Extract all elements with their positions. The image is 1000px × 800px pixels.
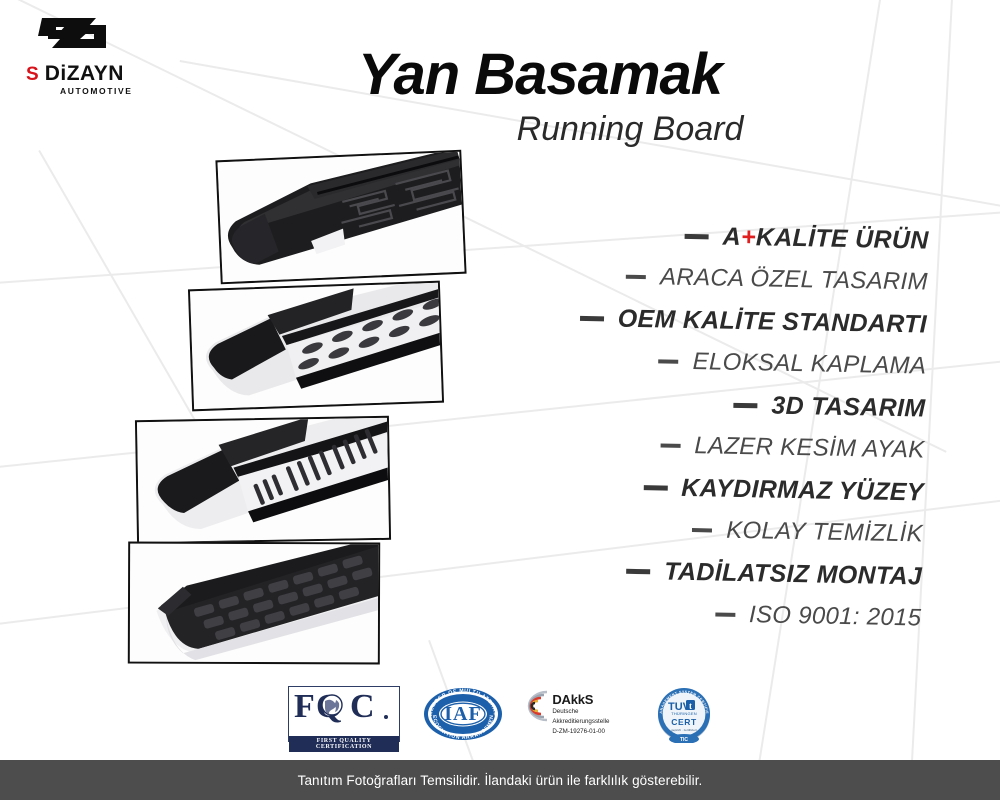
dakks-line-1: Deutsche — [552, 708, 609, 716]
certification-badges: F Q C FIRST QUALITY CERTIFICATION — [288, 683, 713, 745]
svg-text:C: C — [350, 688, 374, 725]
tuv-certification-badge: MANAGEMENT SYSTEM CERTIFIED TUV t THÜRIN… — [655, 685, 713, 743]
product-photo-4-image — [130, 544, 378, 663]
iaf-logo-icon: IAF MEMBER OF MULTILATERAL RECOGNITION A… — [422, 686, 504, 742]
product-photo-2-image — [190, 283, 442, 410]
product-photo-1-image — [217, 152, 464, 282]
feature-label: OEM KALİTE STANDARTI — [618, 304, 928, 339]
svg-text:IAF: IAF — [444, 703, 481, 725]
ad-banner: S DiZAYN AUTOMOTIVE Yan Basamak Running … — [0, 0, 1000, 800]
feature-label: TADİLATSIZ MONTAJ — [664, 557, 922, 591]
disclaimer-text: Tanıtım Fotoğrafları Temsilidir. İlandak… — [298, 773, 703, 788]
dash-icon — [626, 568, 650, 573]
page-subtitle: Running Board — [250, 112, 830, 146]
logo-tagline: AUTOMOTIVE — [60, 86, 202, 96]
dakks-line-2: Akkreditierungsstelle — [552, 718, 609, 726]
svg-text:THÜRINGEN: THÜRINGEN — [671, 711, 697, 716]
feature-label: KAYDIRMAZ YÜZEY — [681, 473, 924, 507]
dash-icon — [626, 275, 646, 279]
svg-text:TIC: TIC — [680, 737, 688, 743]
page-title: Yan Basamak — [250, 46, 830, 104]
dash-icon — [715, 613, 735, 617]
dash-icon — [685, 233, 709, 238]
product-photo-2[interactable] — [188, 281, 444, 412]
svg-text:F: F — [294, 688, 314, 725]
fqc-certification-badge: F Q C FIRST QUALITY CERTIFICATION — [288, 686, 400, 742]
feature-label: 3D TASARIM — [771, 391, 925, 423]
svg-text:CERT: CERT — [671, 717, 697, 727]
product-photo-4[interactable] — [128, 542, 380, 665]
dakks-waves-icon — [525, 686, 551, 726]
dash-icon — [659, 359, 679, 363]
dakks-line-3: D-ZM-19276-01-00 — [552, 728, 609, 736]
dakks-certification-badge: DAkkS Deutsche Akkreditierungsstelle D-Z… — [525, 686, 633, 742]
dash-icon — [660, 443, 680, 447]
dakks-mark: DAkkS — [552, 693, 609, 706]
product-photo-3-image — [137, 418, 389, 542]
iaf-certification-badge: IAF MEMBER OF MULTILATERAL RECOGNITION A… — [422, 686, 504, 742]
feature-label: ARACA ÖZEL TASARIM — [660, 263, 928, 296]
title-block: Yan Basamak Running Board — [250, 46, 830, 146]
product-photo-3[interactable] — [135, 416, 391, 544]
tuv-cert-seal-icon: MANAGEMENT SYSTEM CERTIFIED TUV t THÜRIN… — [655, 685, 713, 743]
feature-label: KOLAY TEMİZLİK — [726, 517, 923, 549]
svg-text:geprüft · zertifiziert: geprüft · zertifiziert — [671, 728, 697, 732]
logo-brand-name: DiZAYN — [45, 63, 124, 84]
product-photo-gallery — [118, 150, 458, 675]
logo-wordmark: S DiZAYN — [26, 63, 202, 84]
dakks-text-block: DAkkS Deutsche Akkreditierungsstelle D-Z… — [552, 686, 609, 737]
dash-icon — [733, 402, 757, 407]
feature-label: LAZER KESİM AYAK — [694, 432, 925, 464]
feature-list: A+KALİTE ÜRÜN ARACA ÖZEL TASARIM OEM KAL… — [451, 211, 929, 640]
dash-icon — [580, 315, 604, 320]
feature-label: A+KALİTE ÜRÜN — [722, 222, 929, 255]
s-dizayn-logo-icon — [36, 12, 110, 54]
product-photo-1[interactable] — [215, 150, 466, 285]
logo-initial: S — [26, 65, 39, 84]
dash-icon — [643, 485, 667, 490]
brand-logo: S DiZAYN AUTOMOTIVE — [22, 12, 202, 96]
dash-icon — [692, 528, 712, 532]
svg-text:t: t — [689, 701, 692, 711]
feature-label: ELOKSAL KAPLAMA — [692, 348, 926, 380]
feature-label: ISO 9001: 2015 — [749, 601, 922, 632]
fqc-caption: FIRST QUALITY CERTIFICATION — [289, 736, 399, 752]
feature-item-iso-9001: ISO 9001: 2015 — [451, 588, 922, 639]
fqc-logo-icon: F Q C — [294, 687, 396, 725]
disclaimer-bar: Tanıtım Fotoğrafları Temsilidir. İlandak… — [0, 760, 1000, 800]
fqc-mark: F Q C — [289, 687, 399, 736]
